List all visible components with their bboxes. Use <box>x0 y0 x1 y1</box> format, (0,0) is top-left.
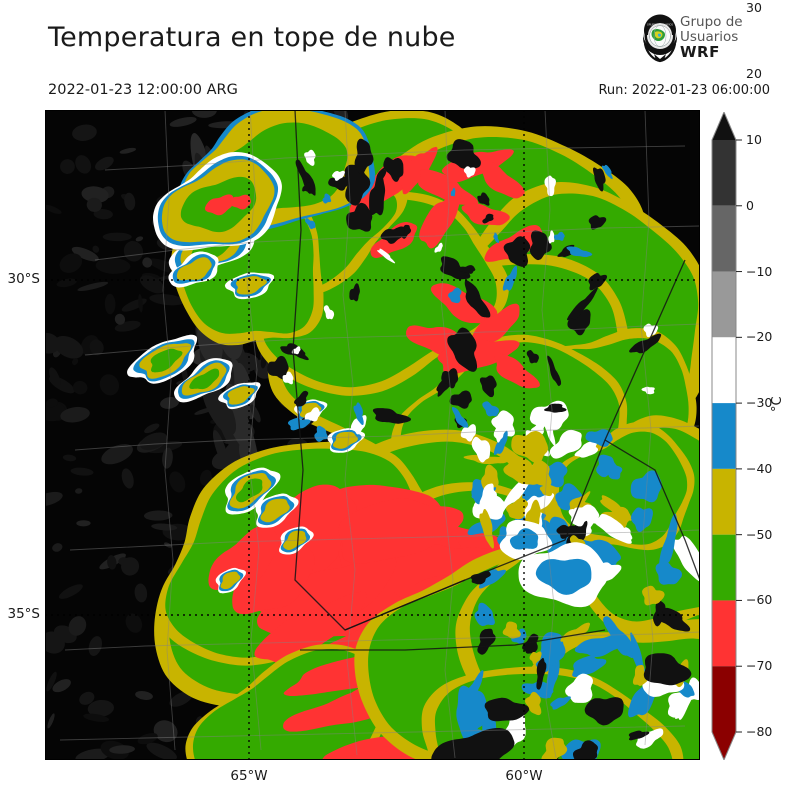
logo: GRUPO DE USUARIOS Grupo de Usuarios WRF <box>640 14 792 66</box>
lat-tick-label-1: 35°S <box>0 606 40 622</box>
lon-tick-label-0: 65°W <box>223 768 275 784</box>
run-time-label: Run: 2022-01-23 06:00:00 <box>598 83 770 98</box>
lat-tick-label-0: 30°S <box>0 271 40 287</box>
colorbar-tick-4: 0 <box>746 198 754 213</box>
map-plot-area[interactable] <box>45 110 700 760</box>
colorbar-unit-label: °C <box>770 396 785 412</box>
colorbar-tick-12: −80 <box>746 724 772 739</box>
logo-line-1: Grupo de <box>680 15 743 30</box>
colorbar-tick-2: 20 <box>746 66 762 81</box>
colorbar-tick-6: −20 <box>746 329 772 344</box>
colorbar-tick-3: 10 <box>746 132 762 147</box>
colorbar-tick-5: −10 <box>746 264 772 279</box>
figure-root: Temperatura en tope de nube 2022-01-23 1… <box>0 0 800 800</box>
cloud-top-temperature-field <box>45 110 700 760</box>
globe-emblem-icon: GRUPO DE USUARIOS <box>640 14 680 64</box>
logo-text: Grupo de Usuarios WRF <box>680 15 743 60</box>
valid-time-label: 2022-01-23 12:00:00 ARG <box>48 82 238 98</box>
colorbar-tick-11: −70 <box>746 658 772 673</box>
colorbar-tick-7: −30 <box>746 395 772 410</box>
logo-line-3: WRF <box>680 45 743 60</box>
colorbar-tick-1: 30 <box>746 0 762 15</box>
page-title: Temperatura en tope de nube <box>48 22 456 53</box>
svg-text:GRUPO DE USUARIOS: GRUPO DE USUARIOS <box>647 23 673 26</box>
colorbar-tick-9: −50 <box>746 527 772 542</box>
colorbar-tick-8: −40 <box>746 461 772 476</box>
lon-tick-label-1: 60°W <box>498 768 550 784</box>
colorbar-tick-10: −60 <box>746 592 772 607</box>
colorbar <box>710 112 736 760</box>
